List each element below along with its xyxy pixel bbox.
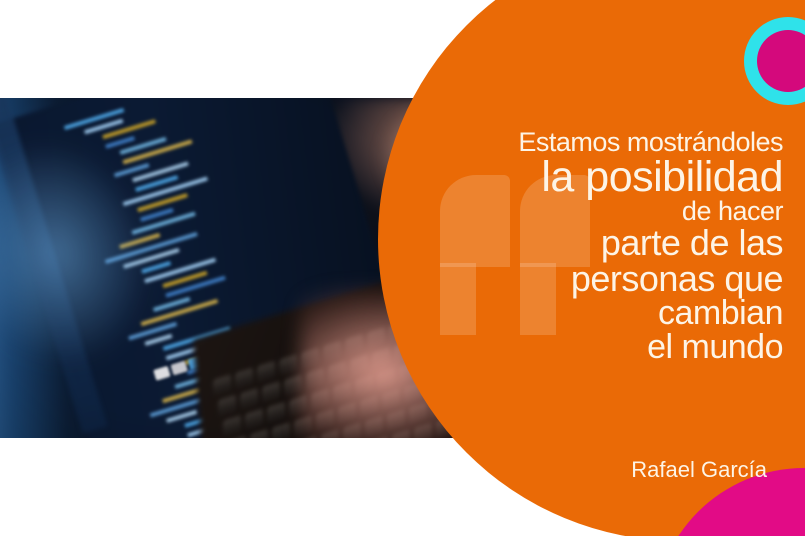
quote-line-6: cambian: [453, 297, 783, 330]
quote-line-4: parte de las: [453, 226, 783, 261]
author-name: Rafael García: [631, 457, 767, 483]
poster-canvas: Estamos mostrándoles la posibilidad de h…: [0, 0, 805, 536]
quote-line-2: la posibilidad: [453, 157, 783, 198]
quote-text-block: Estamos mostrándoles la posibilidad de h…: [453, 130, 783, 363]
quote-line-7: el mundo: [453, 331, 783, 364]
quote-line-5: personas que: [453, 262, 783, 297]
